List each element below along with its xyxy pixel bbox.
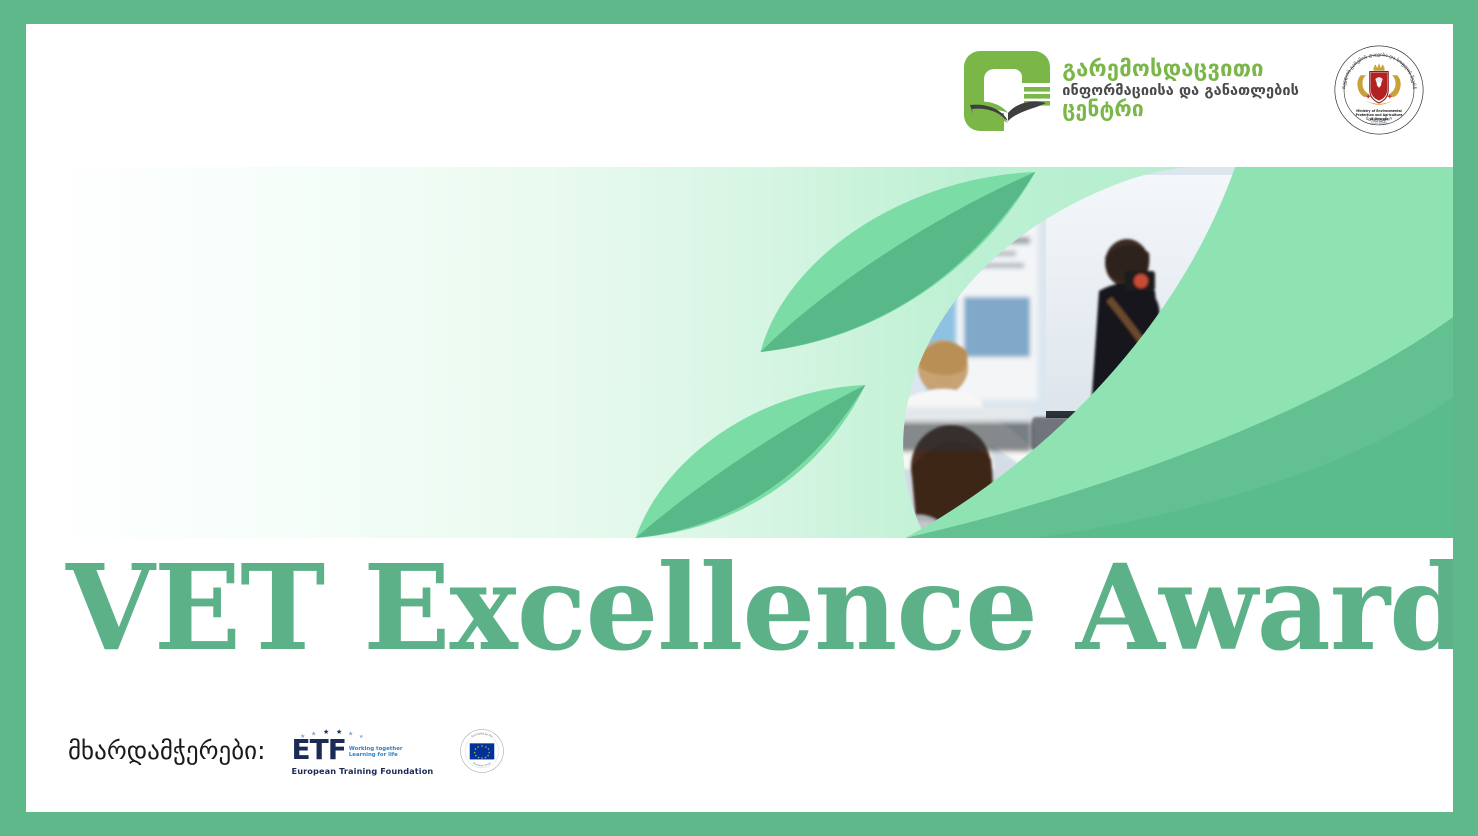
poster-frame: გარემოსდაცვითი ინფორმაციისა და განათლები… — [0, 0, 1478, 836]
svg-text:★: ★ — [359, 734, 364, 740]
poster-card: გარემოსდაცვითი ინფორმაციისა და განათლები… — [26, 24, 1453, 812]
eiec-logo-text: გარემოსდაცვითი ინფორმაციისა და განათლები… — [1062, 59, 1299, 121]
hero-banner — [26, 167, 1453, 538]
svg-text:★: ★ — [311, 730, 316, 737]
eiec-logo-mark-icon — [960, 47, 1052, 133]
ministry-seal-icon: საქართველოს გარემოს დაცვისა და სოფლის მე… — [1333, 44, 1425, 136]
footer: მხარდამჭერები: ★ ★ ★ ★ ★ ★ — [26, 726, 1453, 776]
etf-tagline: Working together Learning for life — [349, 746, 403, 763]
footer-logo-row: ★ ★ ★ ★ ★ ★ ETF Working togethe — [292, 726, 506, 776]
eiec-logo-line-3: ცენტრი — [1062, 99, 1299, 120]
etf-tagline-line-1: Working together — [349, 746, 403, 752]
svg-text:★: ★ — [336, 729, 342, 736]
svg-text:of Georgia: of Georgia — [1370, 117, 1388, 121]
etf-logo: ★ ★ ★ ★ ★ ★ ETF Working togethe — [292, 726, 434, 776]
svg-text:★: ★ — [300, 733, 305, 740]
etf-stars-icon: ★ ★ ★ ★ ★ ★ — [292, 726, 370, 738]
eiec-logo: გარემოსდაცვითი ინფორმაციისა და განათლები… — [960, 47, 1299, 133]
etf-tagline-line-2: Learning for life — [349, 752, 398, 758]
supporters-label: მხარდამჭერები: — [68, 736, 266, 765]
svg-text:★: ★ — [348, 730, 353, 737]
svg-text:mepa.gov.ge: mepa.gov.ge — [1371, 122, 1388, 125]
eiec-logo-line-1: გარემოსდაცვითი — [1062, 59, 1299, 81]
hero-overlay-leaf — [26, 167, 1453, 538]
svg-text:★: ★ — [323, 729, 329, 736]
header-logo-row: გარემოსდაცვითი ინფორმაციისა და განათლები… — [960, 44, 1425, 136]
page-title: VET Excellence Award 2022 — [66, 549, 1453, 667]
header: გარემოსდაცვითი ინფორმაციისა და განათლები… — [26, 24, 1453, 167]
etf-full-name: European Training Foundation — [292, 766, 434, 776]
european-union-seal-icon: Co-funded by the European Union ★★★ ★★★ … — [459, 728, 505, 774]
title-area: VET Excellence Award 2022 — [26, 538, 1453, 678]
eiec-logo-line-2: ინფორმაციისა და განათლების — [1062, 84, 1299, 99]
